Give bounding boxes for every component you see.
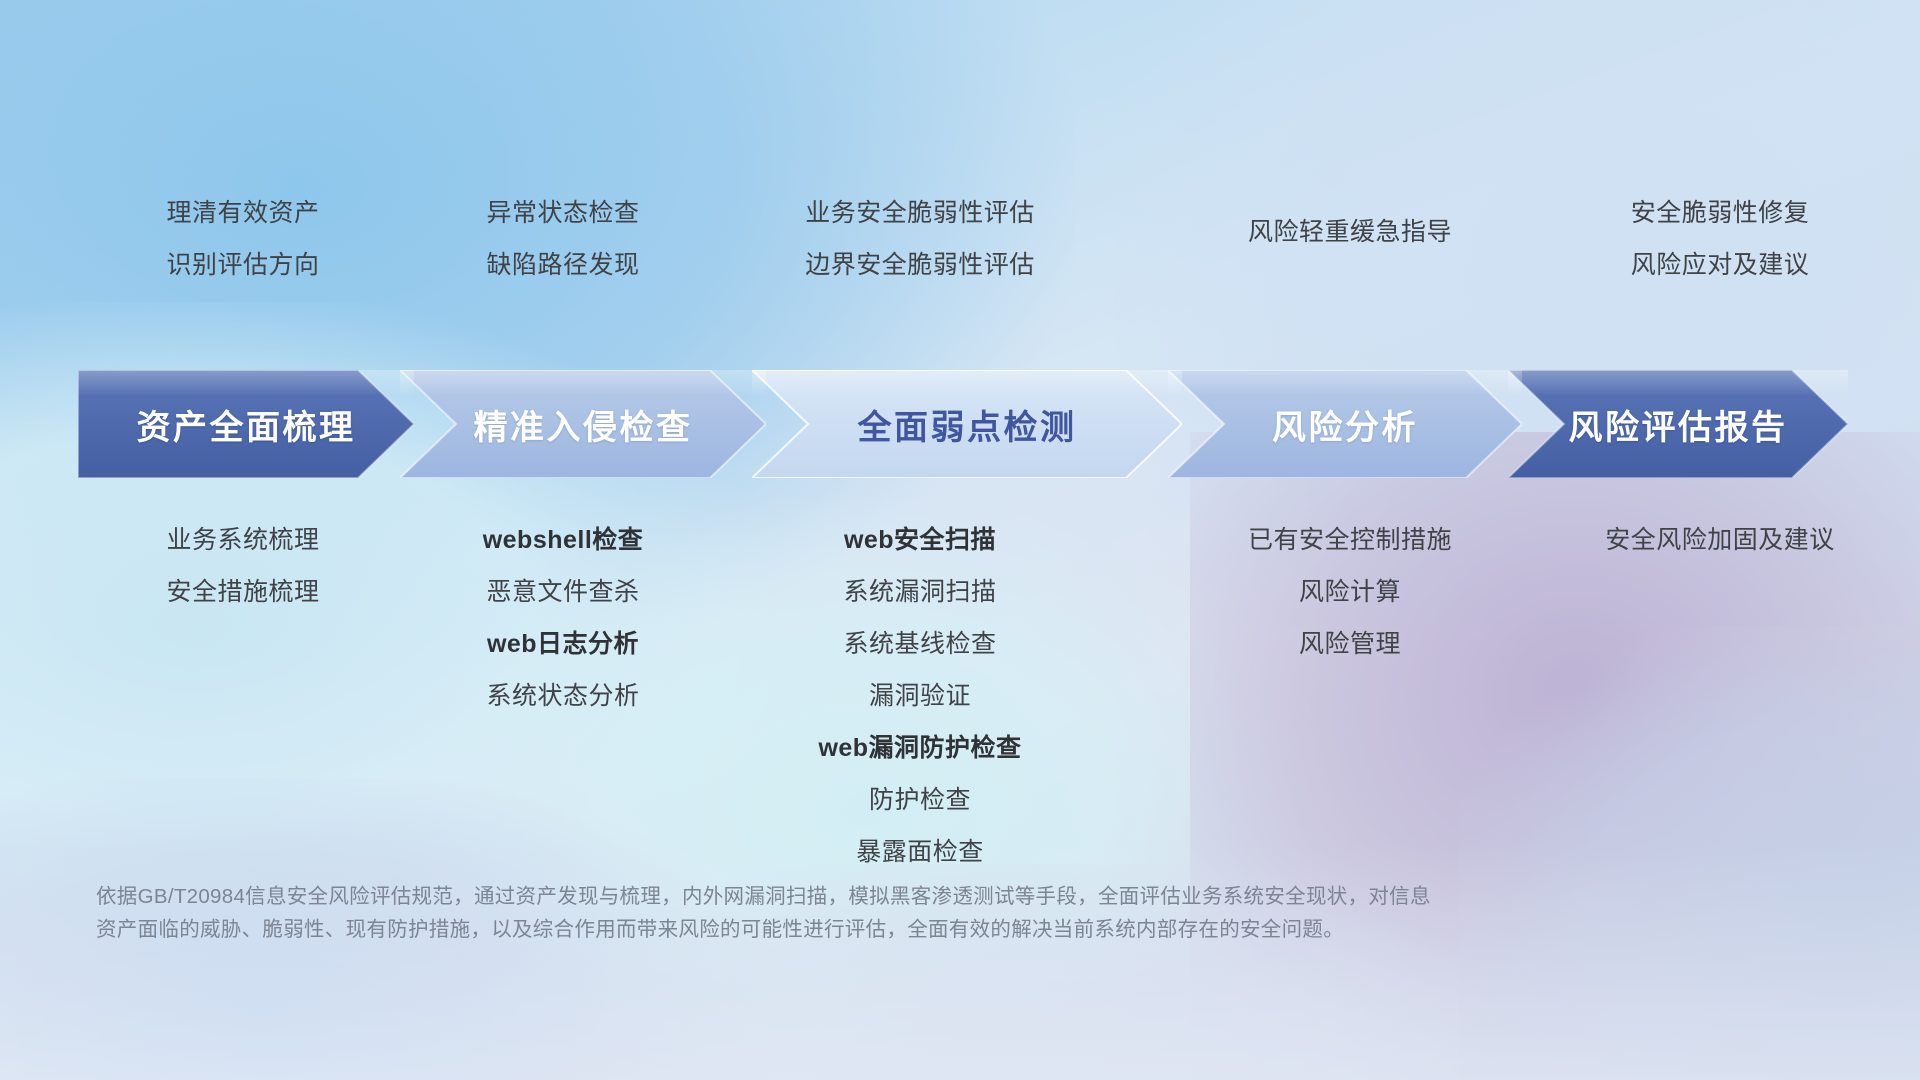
- caption-line: web安全扫描: [700, 520, 1140, 556]
- stage-top-captions-1: 异常状态检查 缺陷路径发现: [398, 193, 728, 281]
- caption-line: webshell检查: [398, 520, 728, 556]
- stage-label: 资产全面梳理: [137, 400, 356, 449]
- stage-top-captions-3: 风险轻重缓急指导: [1140, 212, 1560, 248]
- footer-line-1: 依据GB/T20984信息安全风险评估规范，通过资产发现与梳理，内外网漏洞扫描，…: [96, 880, 1626, 913]
- process-chevron-band: 资产全面梳理 精准入侵检查: [78, 370, 1848, 478]
- caption-line: 识别评估方向: [78, 245, 408, 281]
- caption-line: web漏洞防护检查: [700, 728, 1140, 764]
- caption-line: 风险应对及建议: [1520, 245, 1920, 281]
- stage-chevron-asset-inventory[interactable]: 资产全面梳理: [78, 370, 414, 478]
- stage-bottom-captions-0: 业务系统梳理 安全措施梳理: [78, 520, 408, 608]
- caption-line: 系统漏洞扫描: [700, 572, 1140, 608]
- caption-line: 暴露面检查: [700, 832, 1140, 868]
- caption-line: web日志分析: [398, 624, 728, 660]
- caption-line: 业务系统梳理: [78, 520, 408, 556]
- caption-line: 风险轻重缓急指导: [1140, 212, 1560, 248]
- caption-line: 已有安全控制措施: [1140, 520, 1560, 556]
- caption-line: 安全脆弱性修复: [1520, 193, 1920, 229]
- stage-chevron-risk-analysis[interactable]: 风险分析: [1168, 370, 1522, 478]
- footer-line-2: 资产面临的威胁、脆弱性、现有防护措施，以及综合作用而带来风险的可能性进行评估，全…: [96, 913, 1626, 946]
- stage-bottom-captions-3: 已有安全控制措施 风险计算 风险管理: [1140, 520, 1560, 660]
- stage-chevron-assessment-report[interactable]: 风险评估报告: [1508, 370, 1848, 478]
- stage-chevron-weakness-detection[interactable]: 全面弱点检测: [752, 370, 1182, 478]
- caption-line: 漏洞验证: [700, 676, 1140, 712]
- stage-bottom-captions-1: webshell检查 恶意文件查杀 web日志分析 系统状态分析: [398, 520, 728, 712]
- caption-line: 安全措施梳理: [78, 572, 408, 608]
- caption-line: 风险管理: [1140, 624, 1560, 660]
- caption-line: 防护检查: [700, 780, 1140, 816]
- footer-description: 依据GB/T20984信息安全风险评估规范，通过资产发现与梳理，内外网漏洞扫描，…: [96, 880, 1626, 946]
- stage-top-captions-0: 理清有效资产 识别评估方向: [78, 193, 408, 281]
- caption-line: 系统状态分析: [398, 676, 728, 712]
- caption-line: 恶意文件查杀: [398, 572, 728, 608]
- caption-line: 业务安全脆弱性评估: [700, 193, 1140, 229]
- stage-label: 精准入侵检查: [474, 400, 693, 449]
- stage-bottom-captions-2: web安全扫描 系统漏洞扫描 系统基线检查 漏洞验证 web漏洞防护检查 防护检…: [700, 520, 1140, 868]
- stage-label: 风险评估报告: [1569, 400, 1788, 449]
- caption-line: 缺陷路径发现: [398, 245, 728, 281]
- caption-line: 异常状态检查: [398, 193, 728, 229]
- caption-line: 理清有效资产: [78, 193, 408, 229]
- stage-label: 全面弱点检测: [858, 400, 1077, 449]
- stage-top-captions-4: 安全脆弱性修复 风险应对及建议: [1520, 193, 1920, 281]
- caption-line: 边界安全脆弱性评估: [700, 245, 1140, 281]
- caption-line: 安全风险加固及建议: [1520, 520, 1920, 556]
- stage-top-captions-2: 业务安全脆弱性评估 边界安全脆弱性评估: [700, 193, 1140, 281]
- caption-line: 风险计算: [1140, 572, 1560, 608]
- caption-line: 系统基线检查: [700, 624, 1140, 660]
- stage-chevron-intrusion-check[interactable]: 精准入侵检查: [400, 370, 766, 478]
- stage-label: 风险分析: [1272, 400, 1418, 449]
- stage-bottom-captions-4: 安全风险加固及建议: [1520, 520, 1920, 556]
